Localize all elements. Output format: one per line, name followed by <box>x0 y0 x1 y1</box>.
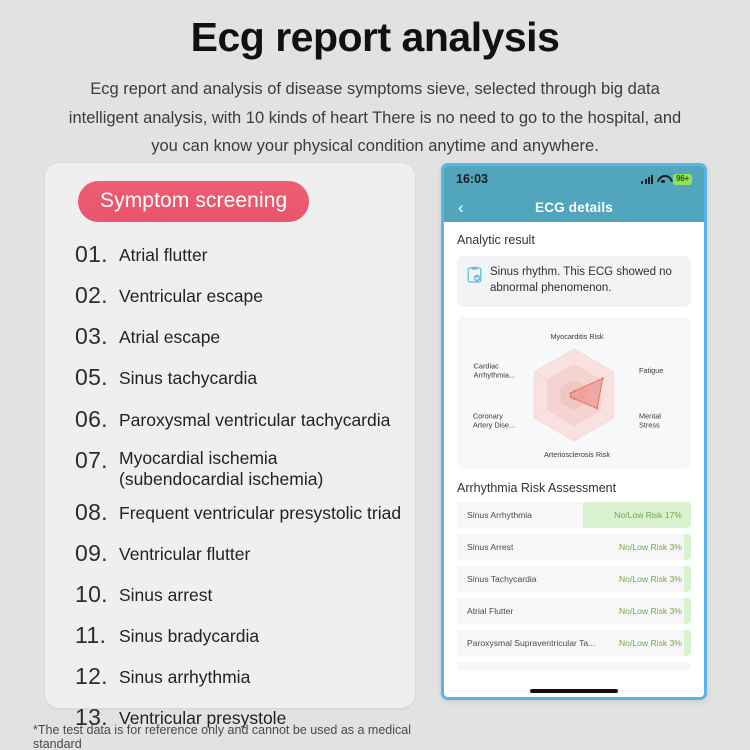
symptom-row: 08.Frequent ventricular presystolic tria… <box>75 499 403 526</box>
risk-row-partial[interactable] <box>457 662 691 670</box>
radar-data-point <box>570 392 572 394</box>
symptom-number: 02. <box>75 282 119 309</box>
symptom-list: 01.Atrial flutter02.Ventricular escape03… <box>45 241 415 750</box>
navbar-title: ECG details <box>444 200 704 215</box>
symptom-name: Ventricular flutter <box>119 540 250 565</box>
symptom-row: 06.Paroxysmal ventricular tachycardia <box>75 406 403 433</box>
risk-row-label: Atrial Flutter <box>457 606 513 616</box>
symptom-number: 12. <box>75 663 119 690</box>
clipboard-check-icon <box>467 266 482 283</box>
symptom-row: 03.Atrial escape <box>75 323 403 350</box>
risk-row[interactable]: Atrial FlutterNo/Low Risk 3% <box>457 598 691 624</box>
symptom-name: Sinus arrhythmia <box>119 663 250 688</box>
risk-row[interactable]: Sinus TachycardiaNo/Low Risk 3% <box>457 566 691 592</box>
page-title: Ecg report analysis <box>40 12 710 63</box>
page-root: Ecg report analysis Ecg report and analy… <box>0 0 750 750</box>
battery-icon: 96+ <box>673 174 692 185</box>
content-area: Symptom screening 01.Atrial flutter02.Ve… <box>0 163 750 750</box>
phone-mockup: 16:03 96+ ‹ ECG details Analytic result <box>441 163 707 700</box>
wifi-icon <box>657 174 669 184</box>
symptom-name: Sinus tachycardia <box>119 364 257 389</box>
risk-row-value: No/Low Risk 3% <box>619 574 691 584</box>
chevron-left-icon[interactable]: ‹ <box>458 199 464 216</box>
disclaimer-text: *The test data is for reference only and… <box>33 723 453 750</box>
status-bar-time: 16:03 <box>456 172 488 186</box>
analytic-result-heading: Analytic result <box>444 222 704 247</box>
symptom-row: 07.Myocardial ischemia(subendocardial is… <box>75 447 403 490</box>
symptom-name: Atrial flutter <box>119 241 208 266</box>
symptom-row: 10.Sinus arrest <box>75 581 403 608</box>
radar-data-point <box>573 390 575 392</box>
symptom-row: 09.Ventricular flutter <box>75 540 403 567</box>
symptom-number: 05. <box>75 364 119 391</box>
risk-assessment-heading: Arrhythmia Risk Assessment <box>444 469 704 495</box>
symptom-name: Paroxysmal ventricular tachycardia <box>119 406 390 431</box>
radar-svg <box>458 325 690 465</box>
symptom-name: Sinus arrest <box>119 581 212 606</box>
risk-row-value: No/Low Risk 17% <box>614 510 691 520</box>
status-bar: 16:03 96+ <box>444 166 704 192</box>
risk-row-value: No/Low Risk 3% <box>619 542 691 552</box>
radar-data-point <box>570 395 572 397</box>
analytic-result-text: Sinus rhythm. This ECG showed no abnorma… <box>490 265 681 297</box>
symptom-screening-card: Symptom screening 01.Atrial flutter02.Ve… <box>45 163 415 708</box>
risk-assessment-list: Sinus ArrhythmiaNo/Low Risk 17%Sinus Arr… <box>444 502 704 670</box>
symptom-screening-badge: Symptom screening <box>78 181 309 222</box>
risk-row-label: Paroxysmal Supraventricular Ta... <box>457 638 595 648</box>
symptom-number: 06. <box>75 406 119 433</box>
symptom-name: Sinus bradycardia <box>119 622 259 647</box>
app-navbar: ‹ ECG details <box>444 192 704 222</box>
risk-row[interactable]: Sinus ArrestNo/Low Risk 3% <box>457 534 691 560</box>
symptom-number: 01. <box>75 241 119 268</box>
symptom-name: Myocardial ischemia(subendocardial ische… <box>119 447 323 490</box>
radar-axis-label: CoronaryArtery Dise... <box>473 411 515 430</box>
radar-data-point <box>601 377 603 379</box>
symptom-row: 11.Sinus bradycardia <box>75 622 403 649</box>
risk-radar-chart: Myocarditis RiskFatigueMentalStressArter… <box>457 317 691 469</box>
symptom-name-line2: (subendocardial ischemia) <box>119 469 323 490</box>
risk-row-value: No/Low Risk 3% <box>619 638 691 648</box>
radar-axis-label: MentalStress <box>639 411 661 430</box>
symptom-name: Atrial escape <box>119 323 220 348</box>
symptom-number: 03. <box>75 323 119 350</box>
symptom-number: 11. <box>75 622 119 649</box>
page-header: Ecg report analysis Ecg report and analy… <box>0 0 750 160</box>
radar-axis-label: CardiacArrhythmia... <box>474 361 515 380</box>
risk-row-value: No/Low Risk 3% <box>619 606 691 616</box>
symptom-number: 08. <box>75 499 119 526</box>
symptom-row: 12.Sinus arrhythmia <box>75 663 403 690</box>
risk-row[interactable]: Sinus ArrhythmiaNo/Low Risk 17% <box>457 502 691 528</box>
symptom-row: 05.Sinus tachycardia <box>75 364 403 391</box>
cellular-signal-icon <box>641 174 653 184</box>
risk-row-label: Sinus Arrest <box>457 542 513 552</box>
symptom-number: 10. <box>75 581 119 608</box>
symptom-name: Ventricular escape <box>119 282 263 307</box>
risk-row-label: Sinus Tachycardia <box>457 574 537 584</box>
radar-axis-label: Fatigue <box>639 366 663 376</box>
symptom-row: 01.Atrial flutter <box>75 241 403 268</box>
page-subtitle: Ecg report and analysis of disease sympt… <box>55 75 695 160</box>
symptom-number: 07. <box>75 447 119 474</box>
radar-axis-label: Arteriosclerosis Risk <box>544 450 610 460</box>
analytic-result-card: Sinus rhythm. This ECG showed no abnorma… <box>457 256 691 307</box>
risk-row-label: Sinus Arrhythmia <box>457 510 532 520</box>
radar-data-point <box>573 397 575 399</box>
status-bar-indicators: 96+ <box>641 174 692 185</box>
radar-data-point <box>596 407 598 409</box>
symptom-row: 02.Ventricular escape <box>75 282 403 309</box>
symptom-number: 09. <box>75 540 119 567</box>
radar-axis-label: Myocarditis Risk <box>550 332 603 342</box>
app-screen: Analytic result Sinus rhythm. This ECG s… <box>444 222 704 700</box>
home-indicator <box>530 689 618 693</box>
symptom-name: Frequent ventricular presystolic triad <box>119 499 401 524</box>
risk-row[interactable]: Paroxysmal Supraventricular Ta...No/Low … <box>457 630 691 656</box>
